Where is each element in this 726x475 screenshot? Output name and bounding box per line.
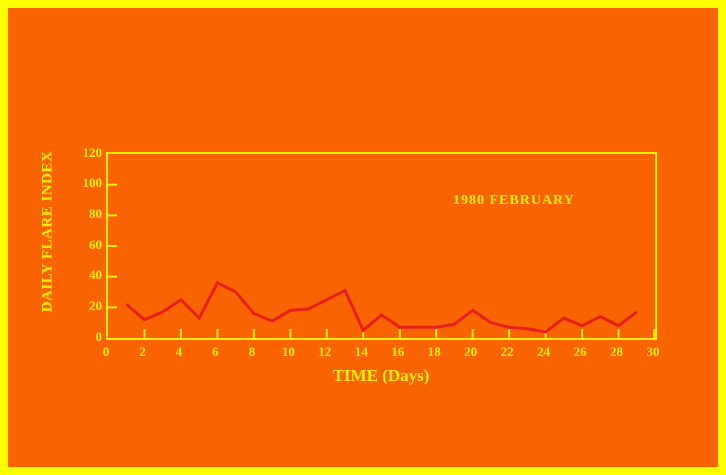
x-tick-label: 20 bbox=[451, 345, 491, 358]
x-tick-label: 6 bbox=[195, 345, 235, 358]
x-tick-label: 0 bbox=[86, 345, 126, 358]
plot-area: 1980 FEBRUARY bbox=[106, 152, 657, 340]
x-tick-label: 24 bbox=[524, 345, 564, 358]
x-tick-label: 8 bbox=[232, 345, 272, 358]
x-tick-label: 10 bbox=[268, 345, 308, 358]
x-tick-label: 28 bbox=[597, 345, 637, 358]
y-tick-label: 20 bbox=[62, 299, 102, 312]
x-axis-title: TIME (Days) bbox=[106, 366, 656, 386]
x-tick-label: 18 bbox=[414, 345, 454, 358]
x-tick-marks bbox=[144, 329, 654, 338]
y-axis-title: DAILY FLARE INDEX bbox=[40, 132, 57, 332]
data-line-chart bbox=[108, 154, 655, 338]
x-tick-label: 14 bbox=[341, 345, 381, 358]
x-axis-tick-labels: 024681012141618202224262830 bbox=[106, 345, 666, 363]
y-tick-label: 80 bbox=[62, 207, 102, 220]
x-tick-label: 30 bbox=[633, 345, 673, 358]
chart-annotation-label: 1980 FEBRUARY bbox=[453, 193, 575, 209]
y-tick-label: 0 bbox=[62, 330, 102, 343]
x-tick-label: 2 bbox=[122, 345, 162, 358]
y-tick-label: 40 bbox=[62, 268, 102, 281]
x-tick-label: 16 bbox=[378, 345, 418, 358]
flare-index-line bbox=[126, 283, 637, 332]
x-tick-label: 22 bbox=[487, 345, 527, 358]
y-tick-label: 120 bbox=[62, 146, 102, 159]
x-tick-label: 26 bbox=[560, 345, 600, 358]
x-tick-label: 12 bbox=[305, 345, 345, 358]
y-tick-label: 60 bbox=[62, 238, 102, 251]
figure-canvas: DAILY FLARE INDEX 120 100 80 60 40 20 0 … bbox=[8, 8, 718, 467]
y-axis-tick-labels: 120 100 80 60 40 20 0 bbox=[58, 152, 102, 336]
y-tick-label: 100 bbox=[62, 176, 102, 189]
y-tick-marks bbox=[108, 185, 117, 308]
x-tick-label: 4 bbox=[159, 345, 199, 358]
